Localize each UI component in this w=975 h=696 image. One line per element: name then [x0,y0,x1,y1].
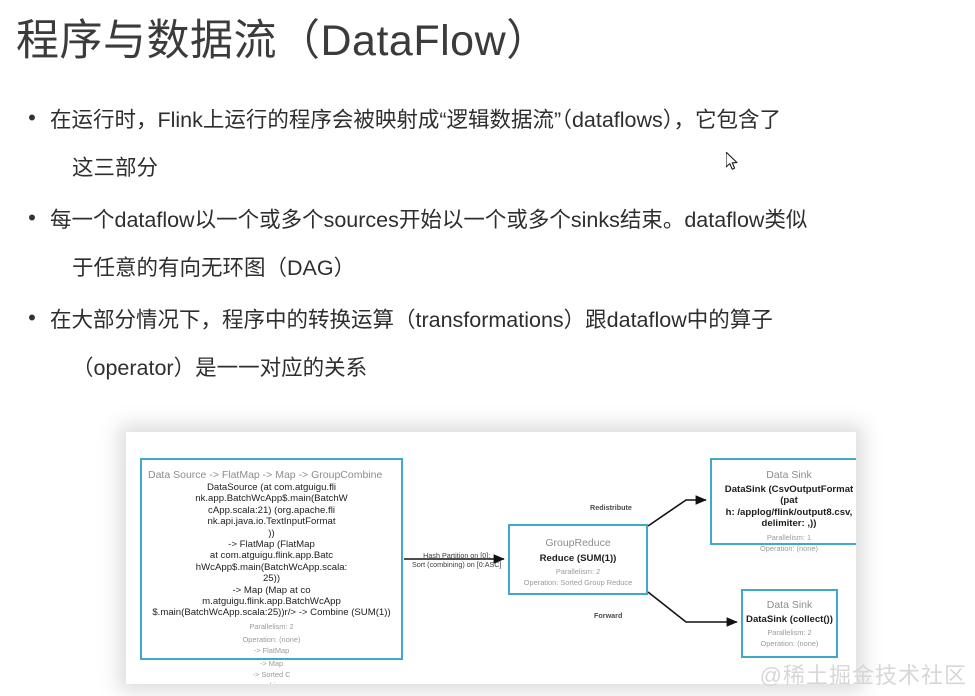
bullet-line: 每一个dataflow以一个或多个sources开始以一个或多个sinks结束。… [50,196,960,244]
edge-label-forward: Forward [594,612,622,621]
node-operation: Operation: (none) [142,635,401,645]
node-extra-line: -> FlatMap [142,646,401,656]
node-main-text: DataSource (at com.atguigu.fli nk.app.Ba… [142,482,401,619]
edge-groupreduce-to-sink-csv [648,500,706,526]
node-title: Data Source -> FlatMap -> Map -> GroupCo… [142,468,401,482]
node-main-line: -> FlatMap (FlatMap [145,539,398,550]
diagram-canvas: Hash Partition on [0]; Sort (combining) … [126,432,856,684]
page-title: 程序与数据流（DataFlow） [16,6,550,68]
node-operation: Operation: (none) [743,639,836,649]
node-parallelism: Parallelism: 1 [712,533,856,543]
node-main-line: nk.app.BatchWcApp$.main(BatchW [145,493,398,504]
node-main-line: $.main(BatchWcApp.scala:25))r/> -> Combi… [145,607,398,618]
node-parallelism: Parallelism: 2 [510,567,646,577]
node-main-line: hWcApp$.main(BatchWcApp.scala: [145,562,398,573]
node-main-line: DataSink (CsvOutputFormat (pat [715,484,856,507]
node-main-text: DataSink (CsvOutputFormat (pat h: /applo… [712,484,856,530]
node-main-line: delimiter: ,)) [715,518,856,529]
bullet-body: 在大部分情况下，程序中的转换运算（transformations）跟datafl… [50,296,960,392]
node-main-text: Reduce (SUM(1)) [510,553,646,564]
node-main-line: nk.api.java.io.TextInputFormat [145,516,398,527]
node-extra-line: -> Map [142,659,401,669]
bullet-body: 在运行时，Flink上运行的程序会被映射成“逻辑数据流”（dataflows），… [50,96,960,192]
diagram-node-data-source[interactable]: Data Source -> FlatMap -> Map -> GroupCo… [140,458,403,660]
diagram-node-data-sink-collect[interactable]: Data Sink DataSink (collect()) Paralleli… [741,589,838,658]
bullet-marker: • [14,296,50,340]
bullet-line: （operator）是一一对应的关系 [50,344,960,392]
node-title: Data Sink [712,468,856,482]
mouse-cursor-icon [726,152,740,172]
node-main-line: m.atguigu.flink.app.BatchWcApp [145,596,398,607]
edge-groupreduce-to-sink-collect [648,592,737,622]
list-item: • 在大部分情况下，程序中的转换运算（transformations）跟data… [14,296,960,392]
node-main-line: -> Map (Map at co [145,585,398,596]
diagram-node-data-sink-csv[interactable]: Data Sink DataSink (CsvOutputFormat (pat… [710,458,856,545]
diagram-node-group-reduce[interactable]: GroupReduce Reduce (SUM(1)) Parallelism:… [508,524,648,595]
bullet-marker: • [14,96,50,140]
node-parallelism: Parallelism: 2 [743,628,836,638]
node-main-line: h: /applog/flink/output8.csv, [715,507,856,518]
node-main-text: DataSink (collect()) [743,614,836,625]
node-main-line: 25)) [145,573,398,584]
bullet-marker: • [14,196,50,240]
node-extra-line: ombine [142,681,401,684]
list-item: • 在运行时，Flink上运行的程序会被映射成“逻辑数据流”（dataflows… [14,96,960,192]
node-operation: Operation: Sorted Group Reduce [510,578,646,588]
node-main-line: at com.atguigu.flink.app.Batc [145,550,398,561]
bullet-line: 在大部分情况下，程序中的转换运算（transformations）跟datafl… [50,296,960,344]
node-title: GroupReduce [510,536,646,550]
dataflow-diagram: Hash Partition on [0]; Sort (combining) … [126,432,856,684]
edge-label-line: Sort (combining) on [0:ASC] [412,561,501,570]
node-main-line: DataSource (at com.atguigu.fli [145,482,398,493]
list-item: • 每一个dataflow以一个或多个sources开始以一个或多个sinks结… [14,196,960,292]
edge-label-redistribute: Redistribute [590,504,632,513]
bullet-list: • 在运行时，Flink上运行的程序会被映射成“逻辑数据流”（dataflows… [14,96,960,396]
bullet-line: 于任意的有向无环图（DAG） [50,244,960,292]
node-title: Data Sink [743,598,836,612]
node-main-line: cApp.scala:21) (org.apache.fli [145,505,398,516]
bullet-line: 这三部分 [50,144,960,192]
node-operation: Operation: (none) [712,544,856,554]
node-extra-line: -> Sorted C [142,670,401,680]
node-main-line: )) [145,528,398,539]
watermark: @稀土掘金技术社区 [760,658,967,690]
bullet-body: 每一个dataflow以一个或多个sources开始以一个或多个sinks结束。… [50,196,960,292]
edge-label-hash-partition: Hash Partition on [0]; Sort (combining) … [412,552,501,569]
bullet-line: 在运行时，Flink上运行的程序会被映射成“逻辑数据流”（dataflows），… [50,96,960,144]
node-parallelism: Parallelism: 2 [142,622,401,632]
